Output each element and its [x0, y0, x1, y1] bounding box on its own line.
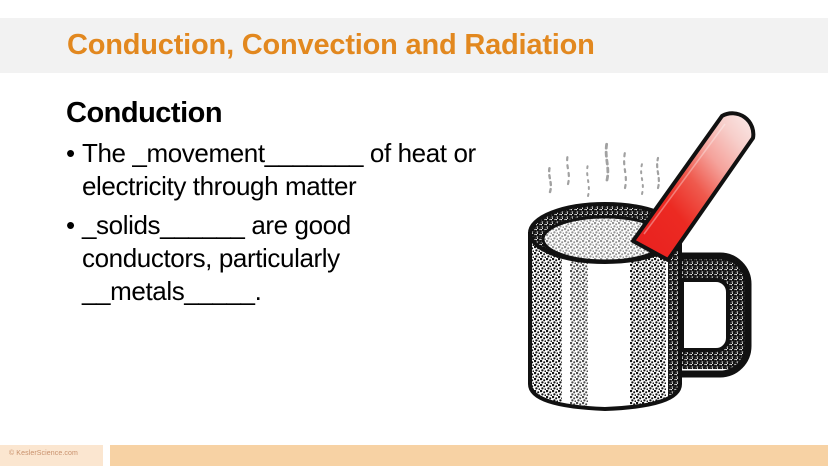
slide-canvas: Conduction, Convection and Radiation Con… [0, 0, 828, 466]
list-item: • The _movement_______ of heat or electr… [66, 137, 486, 203]
mug-with-spoon-illustration [492, 84, 792, 414]
bullet-marker: • [66, 137, 75, 170]
list-item-text: The _movement_______ of heat or electric… [82, 138, 476, 201]
copyright-credit: © KeslerScience.com [9, 450, 78, 457]
section-heading: Conduction [66, 98, 486, 128]
bullet-marker: • [66, 209, 75, 242]
bullet-list: • The _movement_______ of heat or electr… [66, 137, 486, 308]
steam-icon [549, 142, 659, 196]
spoon-icon [633, 113, 753, 260]
list-item: • _solids______ are good conductors, par… [66, 209, 486, 308]
list-item-text: _solids______ are good conductors, parti… [82, 210, 351, 306]
content-column: Conduction • The _movement_______ of hea… [66, 98, 486, 314]
footer-accent-bar [110, 445, 828, 466]
page-title: Conduction, Convection and Radiation [67, 29, 595, 62]
